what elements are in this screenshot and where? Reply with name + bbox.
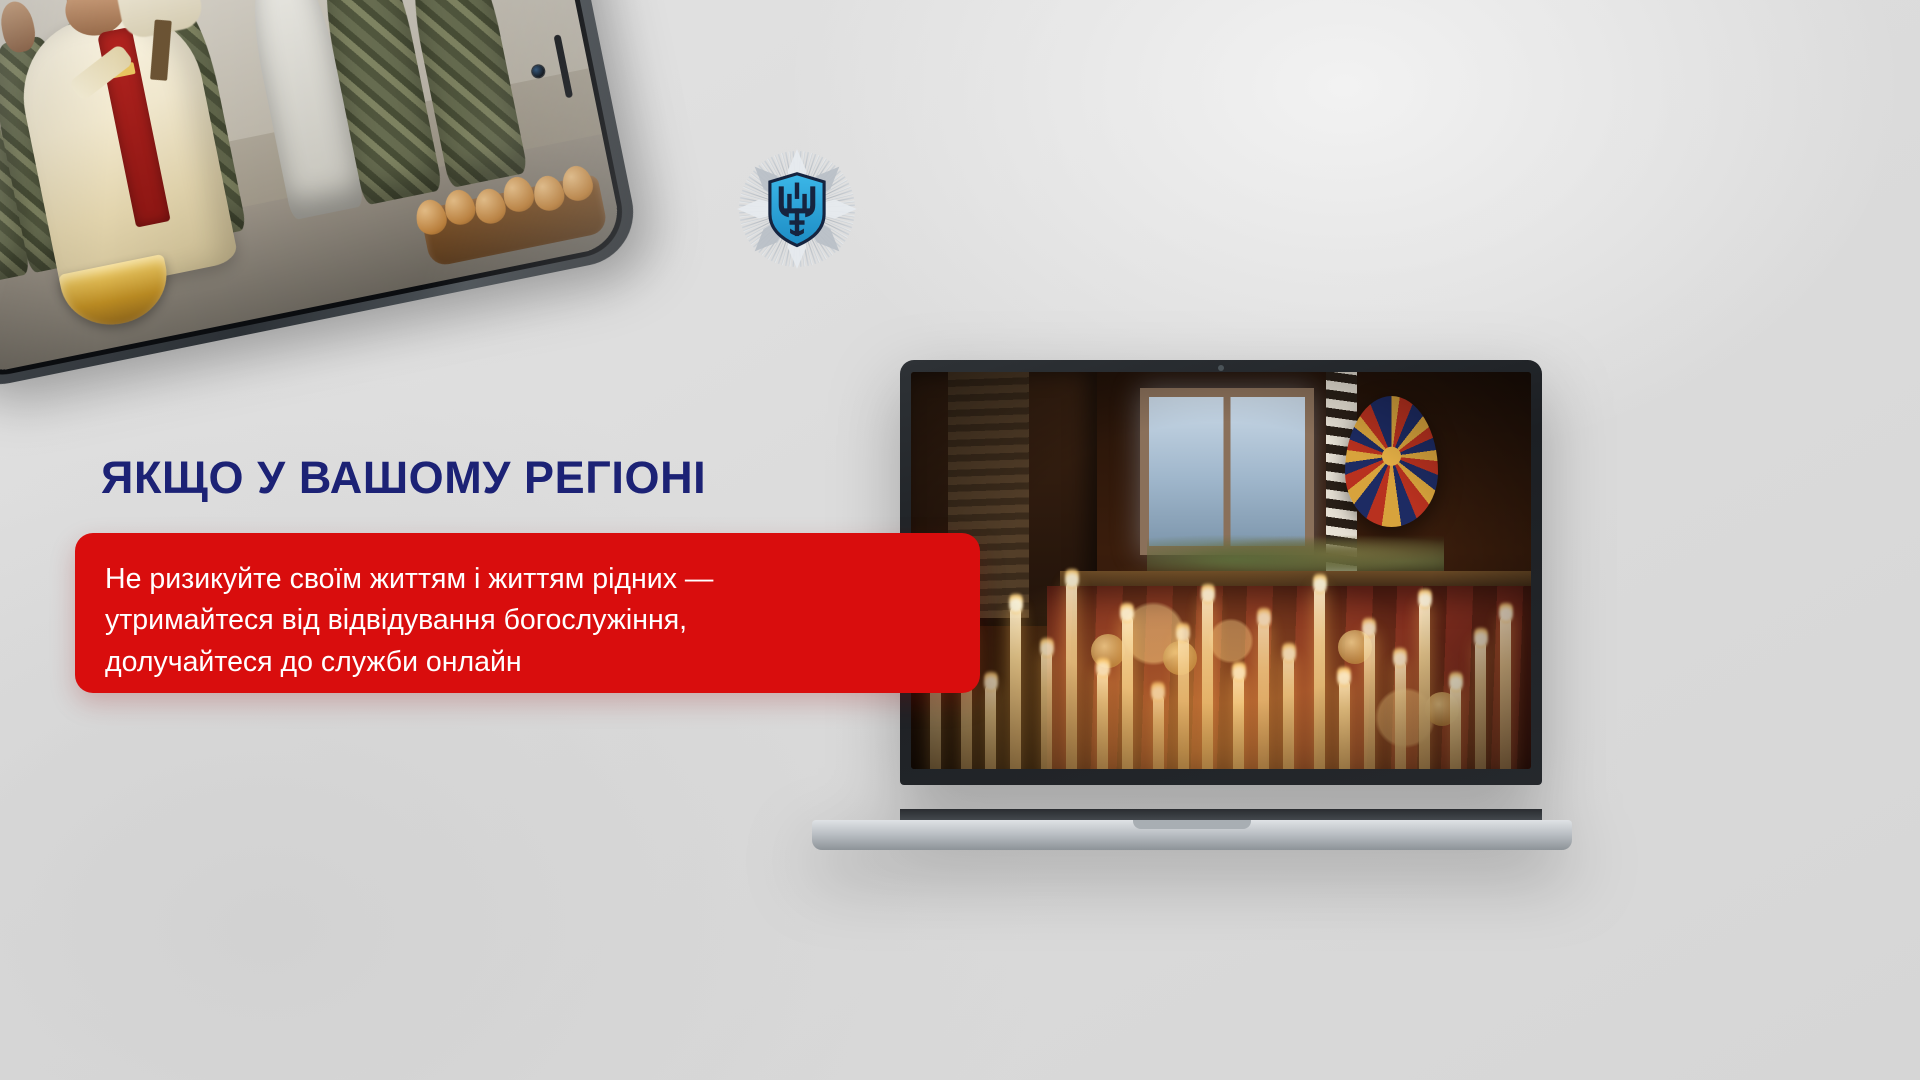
- church-candle: [1283, 656, 1294, 769]
- church-candle: [1500, 616, 1511, 769]
- pysanka-easter-egg: [1345, 396, 1438, 527]
- church-candle: [1097, 671, 1108, 769]
- phone-frame: [0, 0, 643, 394]
- church-candle: [1395, 661, 1406, 769]
- smartphone-device: [0, 0, 643, 394]
- laptop-hinge: [900, 809, 1542, 820]
- ukrainian-national-police-emblem: [724, 146, 870, 272]
- church-candles-group: [911, 523, 1531, 769]
- church-candle: [1178, 636, 1189, 769]
- church-candle: [1258, 621, 1269, 769]
- church-candle: [1202, 597, 1213, 769]
- church-candle: [1419, 602, 1430, 769]
- church-candle: [1153, 695, 1164, 769]
- laptop-screen: [911, 372, 1531, 769]
- callout-line-3: долучайтеся до служби онлайн: [105, 642, 946, 683]
- church-candle: [1364, 631, 1375, 769]
- laptop-lid: [900, 360, 1542, 785]
- church-candle: [1041, 651, 1052, 769]
- church-candle: [1314, 587, 1325, 769]
- church-candle: [1233, 675, 1244, 769]
- poster-canvas: ЯКЩО У ВАШОМУ РЕГІОНІ ВЕДУТЬСЯ АКТИВНІ Б…: [0, 0, 1920, 1080]
- callout-line-1: Не ризикуйте своїм життям і життям рідни…: [105, 559, 946, 600]
- photo-shading: [0, 0, 624, 377]
- church-candle: [1010, 607, 1021, 769]
- church-candle: [985, 685, 996, 769]
- laptop-camera-icon: [1218, 365, 1224, 371]
- phone-bezel: [0, 0, 630, 383]
- church-candle: [1450, 685, 1461, 769]
- church-candle: [1122, 616, 1133, 769]
- callout-line-2: утримайтеся від відвідування богослужінн…: [105, 600, 946, 641]
- warning-callout-box: Не ризикуйте своїм життям і життям рідни…: [75, 533, 980, 693]
- phone-screen: [0, 0, 624, 377]
- church-candle: [1339, 680, 1350, 769]
- church-candle: [1475, 641, 1486, 769]
- laptop-base: [812, 820, 1572, 850]
- church-candle: [1066, 582, 1077, 769]
- laptop-photo-church-interior: [911, 372, 1531, 769]
- phone-photo-priest-blessing-soldiers: [0, 0, 624, 377]
